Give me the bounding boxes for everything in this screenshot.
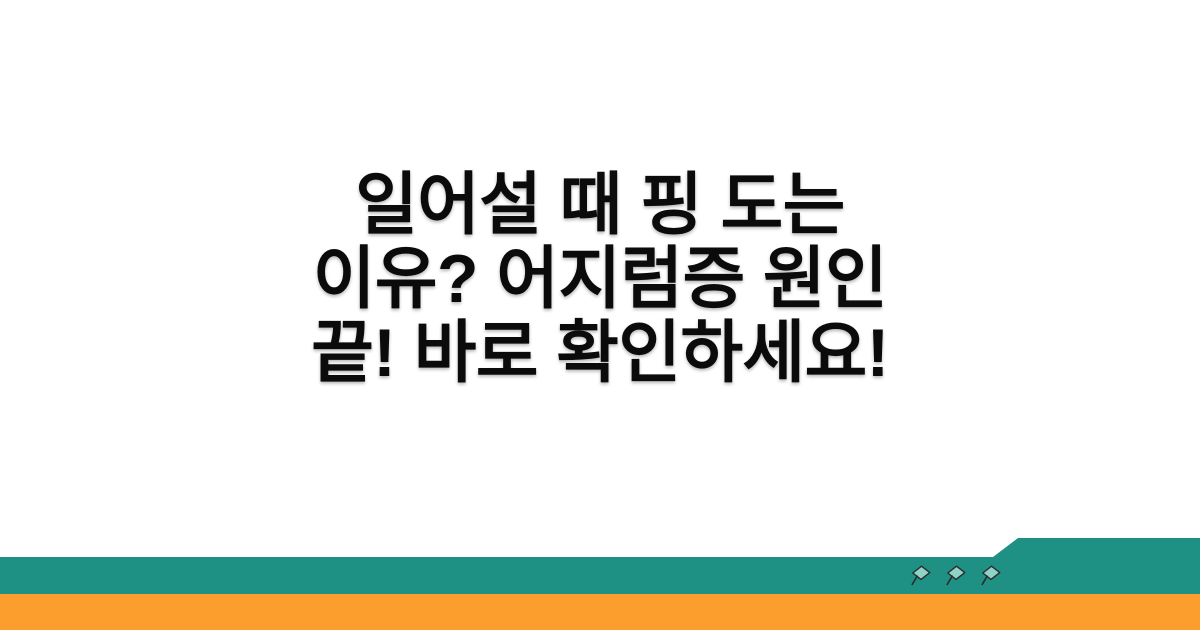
orange-band xyxy=(0,594,1200,630)
headline-block: 일어설 때 핑 도는 이유? 어지럼증 원인 끝! 바로 확인하세요! xyxy=(0,0,1200,558)
headline-line-1: 일어설 때 핑 도는 xyxy=(40,168,1160,242)
sparkle-diamond-3-icon xyxy=(978,563,1004,589)
teal-band xyxy=(0,538,1200,594)
sparkle-diamond-2-icon xyxy=(943,563,969,589)
sparkle-cluster xyxy=(908,562,1004,590)
bottom-decoration xyxy=(0,538,1200,630)
thumbnail-canvas: 일어설 때 핑 도는 이유? 어지럼증 원인 끝! 바로 확인하세요! xyxy=(0,0,1200,630)
headline-line-3: 끝! 바로 확인하세요! xyxy=(40,316,1160,390)
sparkle-diamond-1-icon xyxy=(908,563,934,589)
headline-line-2: 이유? 어지럼증 원인 xyxy=(40,242,1160,316)
